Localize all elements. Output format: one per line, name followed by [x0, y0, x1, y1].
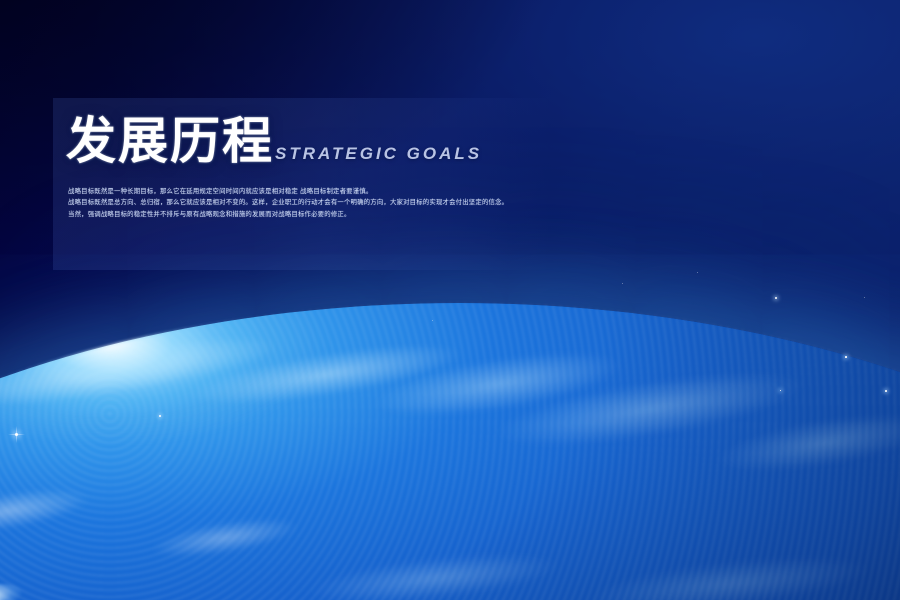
hero-banner: 发展历程 STRATEGIC GOALS 战略目标既然是一种长期目标，那么它在延… — [0, 0, 900, 600]
body-copy: 战略目标既然是一种长期目标，那么它在延用规定空间时间内就应该是相对稳定 战略目标… — [68, 188, 568, 222]
headline-block: 发展历程 STRATEGIC GOALS — [66, 116, 482, 166]
earth-terminator — [0, 303, 900, 600]
earth-globe — [0, 303, 900, 600]
body-copy-line: 战略目标既然是一种长期目标，那么它在延用规定空间时间内就应该是相对稳定 战略目标… — [68, 188, 568, 195]
body-copy-line: 战略目标既然是总方向、总归宿，那么它就应该是相对不变的。这样，企业职工的行动才会… — [68, 199, 568, 206]
page-subtitle: STRATEGIC GOALS — [275, 144, 482, 166]
page-title: 发展历程 — [66, 116, 274, 166]
body-copy-line: 当然，强调战略目标的稳定性并不排斥与原有战略观念和措施的发展而对战略目标作必要的… — [68, 211, 568, 218]
